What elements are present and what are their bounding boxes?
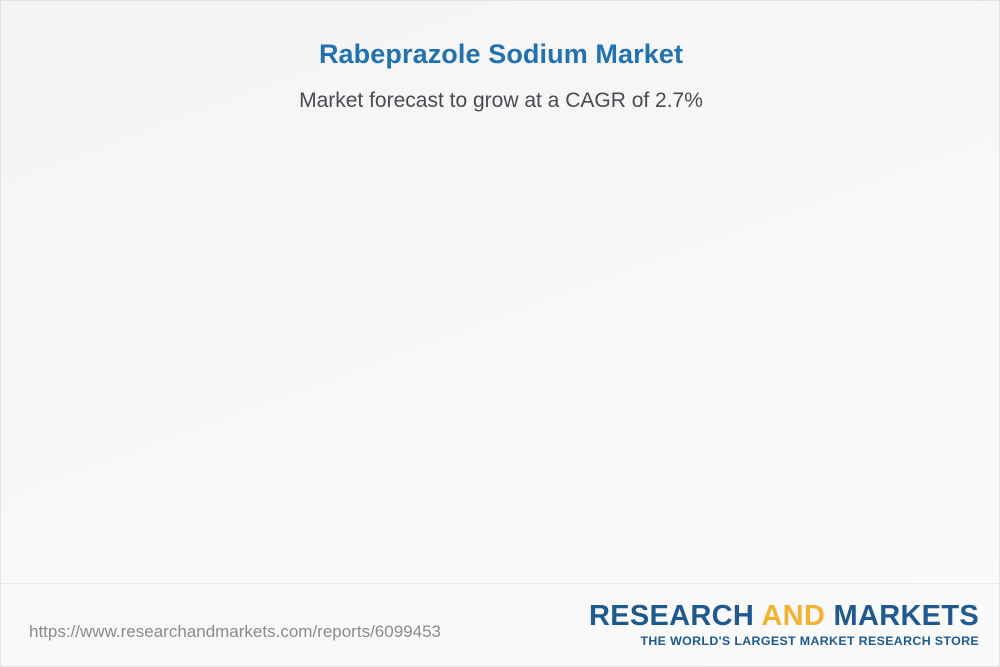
source-url-link[interactable]: https://www.researchandmarkets.com/repor… — [29, 622, 441, 642]
plot-area: USD 642.1 Million 2024 USD 753.6 Million — [1, 1, 1000, 583]
logo-word-and: AND — [761, 600, 833, 632]
logo-word-research: RESEARCH — [589, 600, 761, 632]
logo-wordmark: RESEARCH AND MARKETS — [589, 601, 979, 631]
footer-divider — [1, 583, 1000, 584]
research-and-markets-logo[interactable]: RESEARCH AND MARKETS THE WORLD'S LARGEST… — [589, 601, 979, 648]
logo-tagline: THE WORLD'S LARGEST MARKET RESEARCH STOR… — [589, 634, 979, 648]
logo-word-markets: MARKETS — [834, 600, 980, 632]
chart-canvas: Rabeprazole Sodium Market Market forecas… — [0, 0, 1000, 667]
